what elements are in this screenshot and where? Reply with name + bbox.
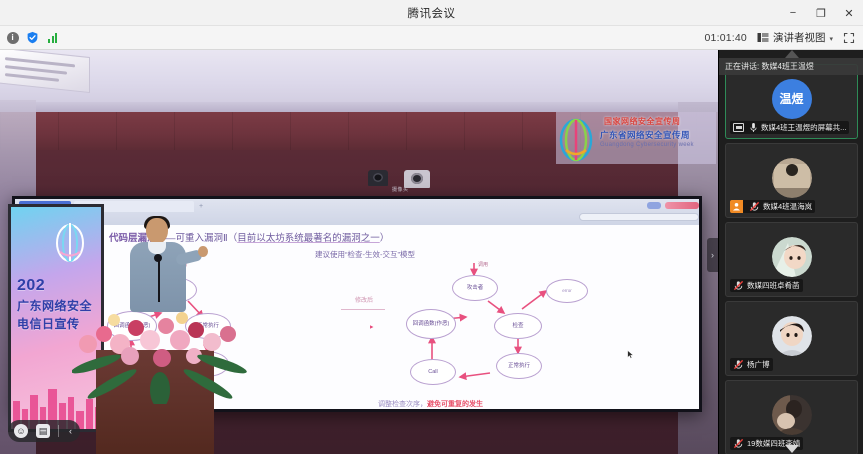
flow-diagram-after: 调用 攻击者 检查 error 正常执行 Call 回调函数(作恶) 调整检查次… bbox=[370, 261, 690, 411]
participant-filmstrip: 正在讲话: 数媒4班王温煜 温煜 数媒4班王温煜的屏幕共... bbox=[718, 50, 863, 454]
poster-emblem-icon bbox=[53, 219, 87, 263]
mouse-cursor-icon bbox=[627, 350, 634, 359]
node-error-after: error bbox=[546, 279, 588, 303]
node-normal-exec-after: 正常执行 bbox=[496, 353, 542, 379]
browser-right-controls bbox=[647, 202, 699, 209]
slide-title-end: ） bbox=[380, 233, 390, 244]
participant-name: 杨广博 bbox=[747, 359, 770, 370]
room-ceiling bbox=[0, 50, 718, 110]
meeting-timer: 01:01:40 bbox=[705, 32, 747, 44]
signal-icon[interactable] bbox=[46, 31, 59, 44]
microphone-muted-icon bbox=[749, 201, 760, 212]
avatar bbox=[772, 316, 812, 356]
flow-caption-after: 调整检查次序，避免可重复的发生 bbox=[378, 399, 483, 409]
participant-tile[interactable]: 19数媒四班李婧 bbox=[725, 380, 858, 454]
fullscreen-icon[interactable] bbox=[843, 32, 855, 44]
microphone-muted-icon bbox=[733, 438, 744, 449]
view-mode-label: 演讲者视图 bbox=[773, 30, 826, 45]
main-video-stage[interactable]: 摄像头 国家网络安全宣传周 广东省网络安全宣传周 Guangdong Cyber… bbox=[0, 50, 718, 454]
browser-profile-icon[interactable] bbox=[665, 202, 699, 209]
emoji-icon[interactable]: ☺ bbox=[14, 424, 28, 438]
camera-label: 摄像头 bbox=[392, 186, 409, 193]
participant-tile[interactable]: 杨广博 bbox=[725, 301, 858, 376]
microphone-muted-icon bbox=[733, 359, 744, 370]
participant-tiles: 温煜 数媒4班王温煜的屏幕共... bbox=[725, 64, 858, 454]
scroll-down-arrow-icon[interactable] bbox=[785, 445, 799, 453]
node-attacker-after: 攻击者 bbox=[452, 275, 498, 301]
close-button[interactable]: ✕ bbox=[835, 0, 863, 26]
screen-share-icon bbox=[733, 123, 744, 132]
participant-label: 数媒四班卓肴菡 bbox=[730, 279, 803, 292]
presenter-head bbox=[146, 218, 168, 244]
toolbar-status-icons: i bbox=[0, 31, 59, 44]
collapse-left-icon[interactable]: ‹ bbox=[67, 426, 74, 436]
browser-chrome: + bbox=[15, 199, 702, 225]
new-tab-icon[interactable]: + bbox=[199, 203, 203, 210]
flow-caption-after-highlight: 避免可重复的发生 bbox=[427, 401, 483, 408]
chat-icon[interactable]: ▤ bbox=[36, 424, 50, 438]
flow-caption-after-normal: 调整检查次序， bbox=[378, 401, 427, 408]
window-title: 腾讯会议 bbox=[408, 5, 456, 21]
host-badge bbox=[730, 200, 743, 213]
microphone-muted-icon bbox=[733, 280, 744, 291]
poster-line-1: 202 bbox=[17, 277, 45, 295]
microphone-stand bbox=[158, 258, 160, 302]
info-icon[interactable]: i bbox=[6, 31, 19, 44]
slide-title-underline: 目前以太坊系统最著名的漏洞之一 bbox=[237, 233, 380, 244]
scroll-up-arrow-icon[interactable] bbox=[785, 50, 799, 58]
active-speaker-notice: 正在讲话: 数媒4班王温煜 bbox=[719, 58, 863, 75]
avatar bbox=[772, 237, 812, 277]
foliage bbox=[72, 346, 248, 404]
participant-name: 数媒四班卓肴菡 bbox=[747, 280, 800, 291]
banner-line-3: Guangdong Cybersecurity week bbox=[600, 142, 694, 148]
chevron-down-icon: ▾ bbox=[829, 35, 833, 43]
banner-line-2: 广东省网络安全宣传周 bbox=[600, 129, 690, 141]
presenter-hand bbox=[198, 246, 208, 257]
microphone-icon bbox=[749, 122, 758, 133]
browser-address-bar[interactable] bbox=[579, 213, 699, 221]
participant-tile[interactable]: 数媒四班卓肴菡 bbox=[725, 222, 858, 297]
shield-icon[interactable] bbox=[26, 31, 39, 44]
active-speaker-text: 正在讲话: 数媒4班王温煜 bbox=[725, 61, 814, 72]
minimize-button[interactable]: − bbox=[779, 0, 807, 26]
maximize-button[interactable]: ❐ bbox=[807, 0, 835, 26]
title-bar: 腾讯会议 − ❐ ✕ bbox=[0, 0, 863, 26]
ac-vent-icon bbox=[0, 50, 90, 93]
participant-label: 杨广博 bbox=[730, 358, 773, 371]
filmstrip-collapse-handle[interactable]: › bbox=[707, 238, 718, 272]
ceiling-camera-icon bbox=[368, 170, 388, 186]
float-bar-divider bbox=[58, 425, 59, 437]
avatar bbox=[772, 158, 812, 198]
browser-action-icon[interactable] bbox=[647, 202, 661, 209]
layout-icon bbox=[757, 32, 769, 43]
node-callback-after: 回调函数(作恶) bbox=[406, 309, 456, 339]
node-check-after: 检查 bbox=[494, 313, 542, 339]
participant-tile-sharing[interactable]: 温煜 数媒4班王温煜的屏幕共... bbox=[725, 64, 858, 139]
tencent-meeting-window: 腾讯会议 − ❐ ✕ i 01:01:40 bbox=[0, 0, 863, 454]
call-label-after: 调用 bbox=[478, 261, 488, 268]
slide-subtitle: 建议使用“检查-生效-交互”模型 bbox=[315, 249, 415, 260]
node-call-after: Call bbox=[410, 359, 456, 385]
banner-line-1: 国家网络安全宣传周 bbox=[604, 116, 681, 127]
window-controls: − ❐ ✕ bbox=[779, 0, 863, 26]
participant-name: 数媒4班王温煜的屏幕共... bbox=[761, 122, 846, 133]
participant-label: 数媒4班温海岚 bbox=[730, 200, 815, 213]
floating-reaction-bar[interactable]: ☺ ▤ ‹ bbox=[8, 420, 80, 442]
view-mode-selector[interactable]: 演讲者视图 ▾ bbox=[757, 30, 833, 45]
avatar bbox=[772, 395, 812, 435]
participant-label: 数媒4班王温煜的屏幕共... bbox=[730, 121, 849, 134]
toolbar-right-group: 01:01:40 演讲者视图 ▾ bbox=[705, 30, 863, 45]
avatar: 温煜 bbox=[772, 79, 812, 119]
participant-name: 数媒4班温海岚 bbox=[763, 201, 812, 212]
participant-tile[interactable]: 数媒4班温海岚 bbox=[725, 143, 858, 218]
meeting-toolbar: i 01:01:40 演讲者视图 ▾ bbox=[0, 26, 863, 50]
